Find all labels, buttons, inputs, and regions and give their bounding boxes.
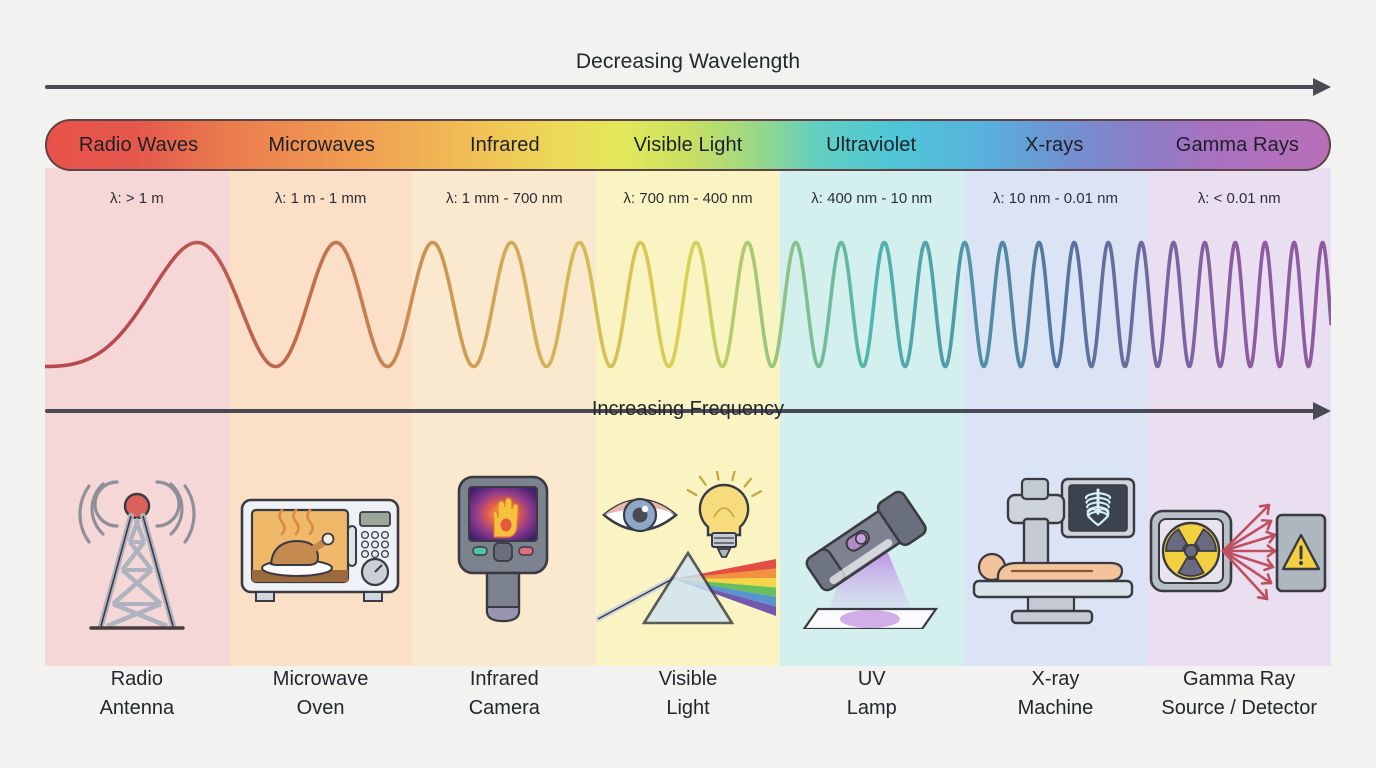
application-caption-2: Infrared Camera	[412, 665, 596, 735]
prism-eye-bulb-icon	[596, 471, 778, 634]
application-icons-row	[45, 452, 1331, 652]
application-icon-cell-0	[45, 452, 228, 652]
decreasing-wavelength-arrow-head	[1313, 78, 1331, 96]
application-caption-1: Microwave Oven	[229, 665, 413, 735]
spectrum-label-x-rays[interactable]: X-rays	[963, 134, 1146, 157]
spectrum-label-microwaves[interactable]: Microwaves	[230, 134, 413, 157]
application-icon-cell-1	[228, 452, 411, 652]
application-icon-cell-5	[962, 452, 1145, 652]
spectrum-label-ultraviolet[interactable]: Ultraviolet	[780, 134, 963, 157]
spectrum-bar: Radio WavesMicrowavesInfraredVisible Lig…	[45, 119, 1331, 171]
application-icon-cell-6	[1145, 452, 1331, 652]
wavelength-value-3: λ: 700 nm - 400 nm	[596, 190, 780, 207]
decreasing-wavelength-arrow-line	[45, 85, 1315, 89]
wavelength-row: λ: > 1 mλ: 1 m - 1 mmλ: 1 mm - 700 nmλ: …	[45, 182, 1331, 214]
microwave-oven-icon	[234, 486, 406, 619]
wavelength-value-2: λ: 1 mm - 700 nm	[412, 190, 596, 207]
wavelength-value-0: λ: > 1 m	[45, 190, 229, 207]
wave-svg	[45, 222, 1331, 387]
infrared-camera-icon	[447, 471, 559, 634]
xray-machine-icon	[964, 471, 1142, 634]
wavelength-value-5: λ: 10 nm - 0.01 nm	[964, 190, 1148, 207]
wave-illustration	[45, 222, 1331, 387]
spectrum-label-gamma-rays[interactable]: Gamma Rays	[1146, 134, 1329, 157]
application-icon-cell-4	[778, 452, 961, 652]
spectrum-label-visible-light[interactable]: Visible Light	[596, 134, 779, 157]
radio-antenna-icon	[71, 464, 203, 641]
wavelength-value-4: λ: 400 nm - 10 nm	[780, 190, 964, 207]
application-caption-5: X-ray Machine	[964, 665, 1148, 735]
wave-path	[45, 243, 1331, 367]
spectrum-label-radio-waves[interactable]: Radio Waves	[47, 134, 230, 157]
wavelength-value-6: λ: < 0.01 nm	[1147, 190, 1331, 207]
application-caption-0: Radio Antenna	[45, 665, 229, 735]
application-caption-6: Gamma Ray Source / Detector	[1147, 665, 1331, 735]
increasing-frequency-title: Increasing Frequency	[0, 398, 1376, 421]
em-spectrum-diagram: Decreasing Wavelength Radio WavesMicrowa…	[0, 0, 1376, 768]
application-icon-cell-2	[412, 452, 595, 652]
wavelength-value-1: λ: 1 m - 1 mm	[229, 190, 413, 207]
radiation-hazard-icon	[1145, 471, 1331, 634]
application-caption-3: Visible Light	[596, 665, 780, 735]
uv-lamp-icon	[784, 471, 956, 634]
application-captions-row: Radio AntennaMicrowave OvenInfrared Came…	[45, 665, 1331, 735]
application-caption-4: UV Lamp	[780, 665, 964, 735]
application-icon-cell-3	[595, 452, 778, 652]
spectrum-label-infrared[interactable]: Infrared	[413, 134, 596, 157]
decreasing-wavelength-title: Decreasing Wavelength	[0, 50, 1376, 74]
